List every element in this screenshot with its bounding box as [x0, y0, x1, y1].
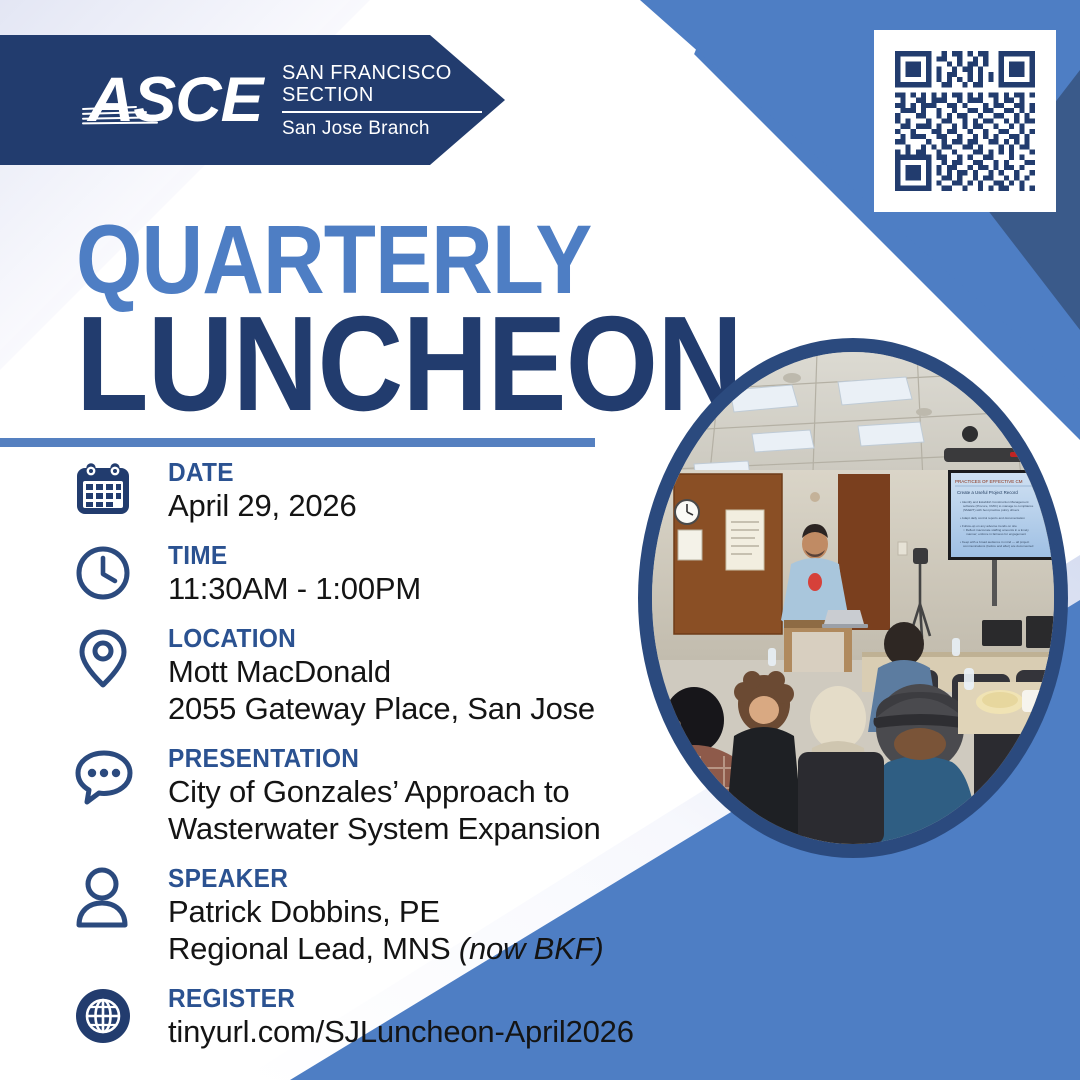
detail-label-date: DATE [168, 457, 345, 487]
detail-label-presentation: PRESENTATION [168, 743, 575, 773]
calendar-icon [74, 455, 168, 519]
speaker-role-italic: (now BKF) [459, 931, 604, 966]
detail-row-presentation: PRESENTATION City of Gonzales’ Approach … [74, 741, 714, 847]
svg-text:Create a Useful Project Record: Create a Useful Project Record [957, 490, 1018, 495]
logo-line-branch: San Jose Branch [282, 119, 482, 139]
qr-code[interactable] [874, 30, 1056, 212]
detail-value-date: April 29, 2026 [168, 487, 357, 524]
detail-label-speaker: SPEAKER [168, 863, 577, 893]
svg-text:communications (before and aft: communications (before and after) are do… [963, 544, 1034, 548]
svg-text:(SMaRT) with best practice pol: (SMaRT) with best practice policy driver… [963, 508, 1020, 512]
logo-line-san-francisco: SAN FRANCISCO [282, 62, 482, 84]
detail-value-time: 11:30AM - 1:00PM [168, 570, 421, 607]
detail-text-time: TIME 11:30AM - 1:00PM [168, 538, 421, 607]
detail-text-speaker: SPEAKER Patrick Dobbins, PE Regional Lea… [168, 861, 604, 967]
detail-label-register: REGISTER [168, 983, 606, 1013]
detail-text-presentation: PRESENTATION City of Gonzales’ Approach … [168, 741, 601, 847]
detail-value-presentation-line2: Wasterwater System Expansion [168, 810, 601, 847]
svg-text:PRACTICES OF EFFECTIVE CM: PRACTICES OF EFFECTIVE CM [955, 479, 1023, 484]
qr-code-icon [890, 46, 1040, 196]
detail-row-speaker: SPEAKER Patrick Dobbins, PE Regional Lea… [74, 861, 714, 967]
detail-value-location-line2: 2055 Gateway Place, San Jose [168, 690, 595, 727]
clock-icon [74, 538, 168, 602]
detail-value-speaker-role: Regional Lead, MNS (now BKF) [168, 930, 604, 967]
detail-row-time: TIME 11:30AM - 1:00PM [74, 538, 714, 607]
detail-text-register: REGISTER tinyurl.com/SJLuncheon-April202… [168, 981, 634, 1050]
detail-row-register: REGISTER tinyurl.com/SJLuncheon-April202… [74, 981, 714, 1050]
detail-text-date: DATE April 29, 2026 [168, 455, 357, 524]
speech-bubble-icon [74, 741, 168, 805]
detail-value-location-line1: Mott MacDonald [168, 653, 595, 690]
svg-text:• Adapt daily control reports: • Adapt daily control reports and docume… [960, 516, 1025, 520]
asce-logo-banner: ASCE SAN FRANCISCO SECTION San Jose Bran… [0, 35, 505, 165]
logo-line-section: SECTION [282, 84, 482, 106]
detail-row-location: LOCATION Mott MacDonald 2055 Gateway Pla… [74, 621, 714, 727]
poster-canvas: ASCE SAN FRANCISCO SECTION San Jose Bran… [0, 0, 1080, 1080]
asce-wave-lines-icon [82, 107, 158, 125]
globe-icon[interactable] [74, 981, 168, 1045]
title-divider [0, 438, 595, 447]
detail-text-location: LOCATION Mott MacDonald 2055 Gateway Pla… [168, 621, 595, 727]
detail-value-presentation-line1: City of Gonzales’ Approach to [168, 773, 601, 810]
detail-label-location: LOCATION [168, 623, 569, 653]
logo-section-text: SAN FRANCISCO SECTION San Jose Branch [282, 62, 482, 139]
detail-value-speaker-name: Patrick Dobbins, PE [168, 893, 604, 930]
map-pin-icon [74, 621, 168, 691]
detail-value-register-url[interactable]: tinyurl.com/SJLuncheon-April2026 [168, 1013, 634, 1050]
detail-row-date: DATE April 29, 2026 [74, 455, 714, 524]
svg-text:manner; enforce in fairness fo: manner; enforce in fairness for engageme… [966, 532, 1026, 536]
speaker-role-plain: Regional Lead, MNS [168, 931, 459, 966]
logo-rule [282, 111, 482, 113]
person-icon [74, 861, 168, 929]
detail-label-time: TIME [168, 540, 406, 570]
event-details-list: DATE April 29, 2026 TIME 11:30AM - 1:00P… [74, 455, 714, 1050]
asce-wave-mark-icon: ASCE [88, 69, 266, 131]
